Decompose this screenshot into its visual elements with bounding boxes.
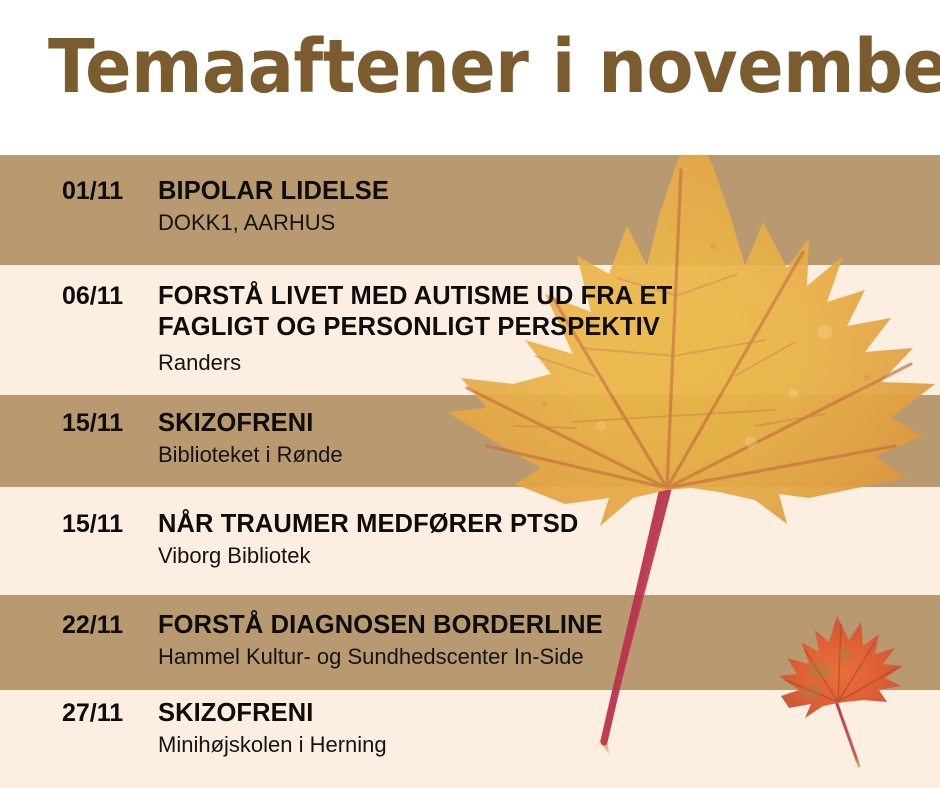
event-venue: Viborg Bibliotek: [158, 542, 940, 570]
event-title: FORSTÅ LIVET MED AUTISME UD FRA ET FAGLI…: [158, 281, 758, 343]
event-row-1[interactable]: 01/11 BIPOLAR LIDELSE DOKK1, AARHUS: [0, 176, 940, 237]
event-date: 27/11: [0, 698, 158, 728]
event-venue: Randers: [158, 349, 940, 377]
event-venue: DOKK1, AARHUS: [158, 209, 940, 237]
page-title: Temaaftener i november: [48, 26, 836, 108]
event-row-5[interactable]: 22/11 FORSTÅ DIAGNOSEN BORDERLINE Hammel…: [0, 610, 940, 671]
event-date: 15/11: [0, 408, 158, 438]
event-body: NÅR TRAUMER MEDFØRER PTSD Viborg Bibliot…: [158, 509, 940, 570]
event-title: BIPOLAR LIDELSE: [158, 176, 940, 207]
event-row-4[interactable]: 15/11 NÅR TRAUMER MEDFØRER PTSD Viborg B…: [0, 509, 940, 570]
event-body: BIPOLAR LIDELSE DOKK1, AARHUS: [158, 176, 940, 237]
event-row-6[interactable]: 27/11 SKIZOFRENI Minihøjskolen i Herning: [0, 698, 940, 759]
event-date: 01/11: [0, 176, 158, 206]
event-date: 06/11: [0, 281, 158, 311]
title-area: Temaaftener i november: [0, 0, 940, 155]
event-venue: Hammel Kultur- og Sundhedscenter In-Side: [158, 643, 940, 671]
event-venue: Minihøjskolen i Herning: [158, 731, 940, 759]
event-date: 15/11: [0, 509, 158, 539]
event-title: FORSTÅ DIAGNOSEN BORDERLINE: [158, 610, 940, 641]
event-body: SKIZOFRENI Minihøjskolen i Herning: [158, 698, 940, 759]
event-title: SKIZOFRENI: [158, 698, 940, 729]
poster-canvas: Temaaftener i november 01/11 BIPOLAR LID…: [0, 0, 940, 788]
event-title: SKIZOFRENI: [158, 408, 940, 439]
event-body: FORSTÅ LIVET MED AUTISME UD FRA ET FAGLI…: [158, 281, 940, 377]
event-body: SKIZOFRENI Biblioteket i Rønde: [158, 408, 940, 469]
event-row-3[interactable]: 15/11 SKIZOFRENI Biblioteket i Rønde: [0, 408, 940, 469]
event-date: 22/11: [0, 610, 158, 640]
event-venue: Biblioteket i Rønde: [158, 441, 940, 469]
event-row-2[interactable]: 06/11 FORSTÅ LIVET MED AUTISME UD FRA ET…: [0, 281, 940, 377]
event-body: FORSTÅ DIAGNOSEN BORDERLINE Hammel Kultu…: [158, 610, 940, 671]
event-title: NÅR TRAUMER MEDFØRER PTSD: [158, 509, 940, 540]
